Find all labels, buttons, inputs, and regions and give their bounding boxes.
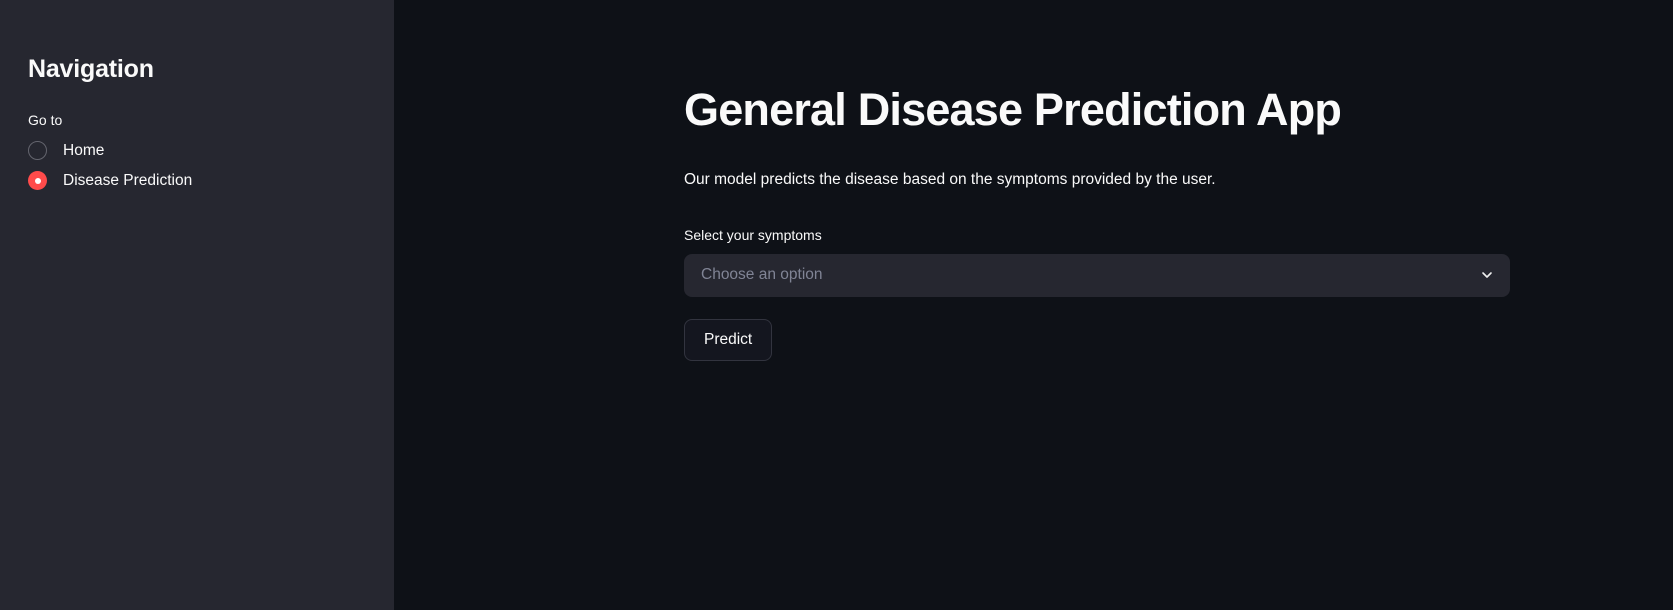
sidebar-item-label-disease-prediction: Disease Prediction	[63, 170, 192, 192]
radio-group-label: Go to	[28, 110, 366, 131]
radio-checked-icon[interactable]	[28, 171, 47, 190]
symptoms-select-placeholder: Choose an option	[701, 264, 823, 286]
navigation-radio-group: Home Disease Prediction	[28, 140, 366, 191]
radio-unchecked-icon[interactable]	[28, 141, 47, 160]
sidebar-item-label-home: Home	[63, 140, 104, 162]
app-root: Navigation Go to Home Disease Prediction…	[0, 0, 1673, 610]
sidebar-item-home[interactable]: Home	[28, 140, 366, 162]
page-subtitle: Our model predicts the disease based on …	[684, 136, 1510, 193]
page-title: General Disease Prediction App	[684, 0, 1510, 136]
sidebar: Navigation Go to Home Disease Prediction	[0, 0, 394, 610]
predict-button[interactable]: Predict	[684, 319, 772, 361]
symptoms-select[interactable]: Choose an option	[684, 254, 1510, 297]
chevron-down-icon[interactable]	[1478, 266, 1496, 284]
main-content: General Disease Prediction App Our model…	[394, 0, 1673, 610]
radio-dot	[35, 178, 41, 184]
symptoms-select-label: Select your symptoms	[684, 225, 1510, 246]
sidebar-item-disease-prediction[interactable]: Disease Prediction	[28, 170, 366, 192]
main-content-container: General Disease Prediction App Our model…	[684, 0, 1510, 361]
sidebar-title: Navigation	[28, 54, 366, 84]
